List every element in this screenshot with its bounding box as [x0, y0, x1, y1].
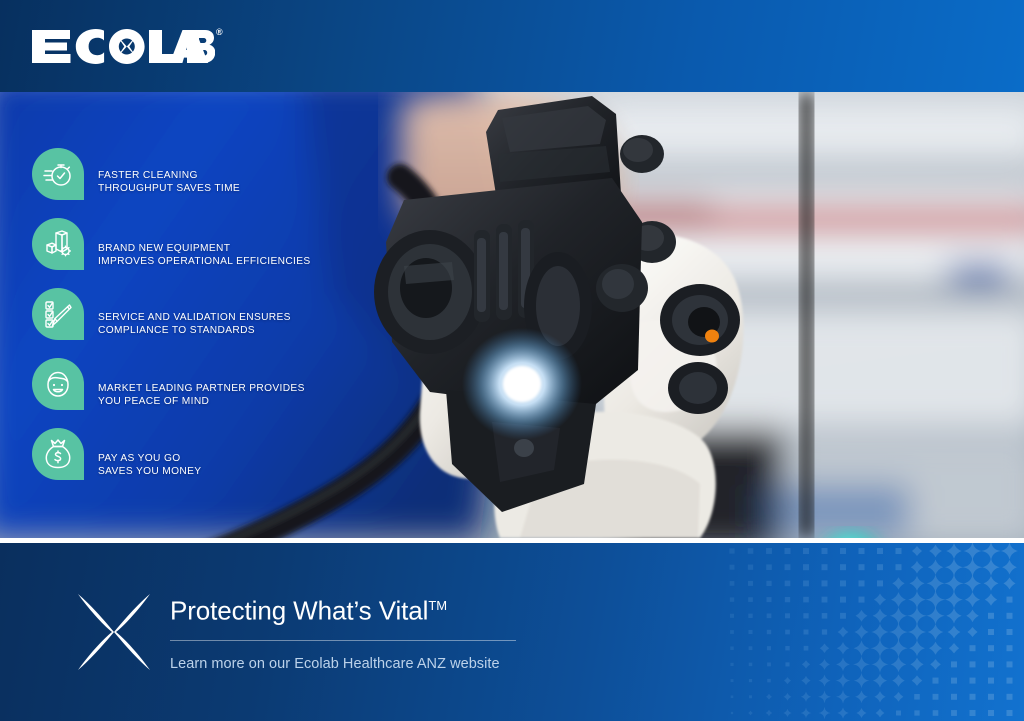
feature-item-brand-new-equipment[interactable]: BRAND NEW EQUIPMENT IMPROVES OPERATIONAL… — [32, 209, 340, 279]
ecolab-star-icon — [64, 582, 164, 682]
checklist-pen-icon — [32, 288, 84, 340]
ecolab-wordmark-icon — [30, 27, 215, 65]
feature-item-market-leading-partner[interactable]: MARKET LEADING PARTNER PROVIDES YOU PEAC… — [32, 349, 340, 419]
feature-item-label: PAY AS YOU GO SAVES YOU MONEY — [98, 452, 201, 478]
feature-item-pay-as-you-go[interactable]: PAY AS YOU GO SAVES YOU MONEY — [32, 419, 340, 489]
smiling-face-icon — [32, 358, 84, 410]
header-bar: ® — [0, 0, 1024, 92]
tagline-divider — [170, 640, 516, 641]
ecolab-logo[interactable]: ® — [30, 27, 223, 65]
footer-bar: Protecting What’s VitalTM Learn more on … — [0, 543, 1024, 721]
tagline: Protecting What’s VitalTM — [170, 591, 518, 626]
feature-item-label: BRAND NEW EQUIPMENT IMPROVES OPERATIONAL… — [98, 242, 311, 268]
feature-item-label: FASTER CLEANING THROUGHPUT SAVES TIME — [98, 169, 240, 195]
trademark-mark: TM — [428, 598, 447, 613]
feature-item-label: SERVICE AND VALIDATION ENSURES COMPLIANC… — [98, 311, 291, 337]
feature-item-label: MARKET LEADING PARTNER PROVIDES YOU PEAC… — [98, 382, 305, 408]
registered-mark: ® — [216, 28, 223, 37]
stopwatch-check-icon — [32, 148, 84, 200]
feature-item-service-validation[interactable]: SERVICE AND VALIDATION ENSURES COMPLIANC… — [32, 279, 340, 349]
feature-list: FASTER CLEANING THROUGHPUT SAVES TIME — [0, 92, 340, 538]
equipment-gear-icon — [32, 218, 84, 270]
footer-subline[interactable]: Learn more on our Ecolab Healthcare ANZ … — [170, 655, 518, 673]
feature-item-faster-cleaning[interactable]: FASTER CLEANING THROUGHPUT SAVES TIME — [32, 139, 340, 209]
promotional-banner: ® — [0, 0, 1024, 721]
hero-photo: FASTER CLEANING THROUGHPUT SAVES TIME — [0, 92, 1024, 538]
money-bag-icon — [32, 428, 84, 480]
tagline-text: Protecting What’s Vital — [170, 596, 428, 626]
